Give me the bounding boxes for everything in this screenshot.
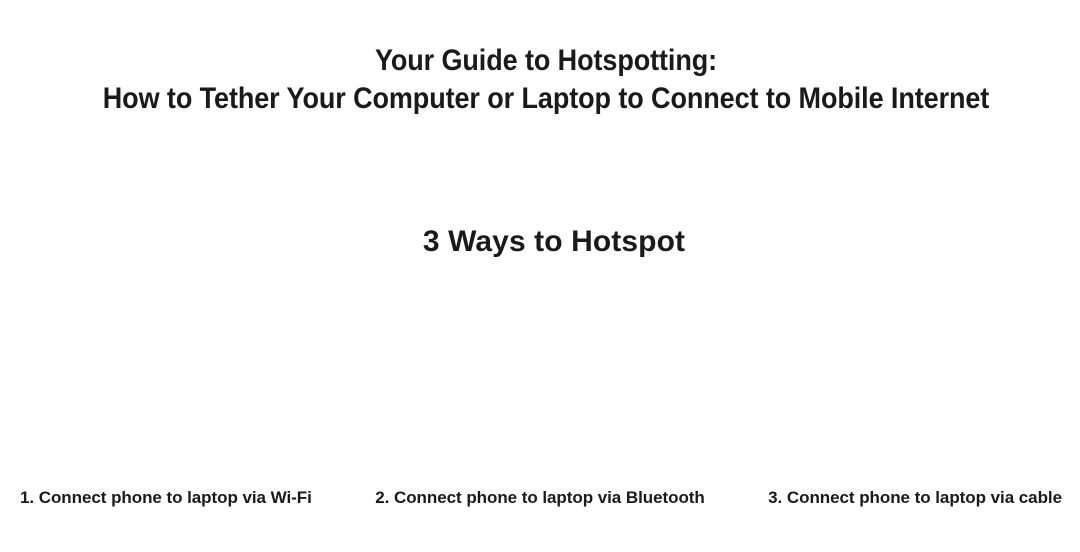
infographic-canvas: Your Guide to Hotspotting: How to Tether… [0,0,1080,552]
method-caption-bluetooth: 2. Connect phone to laptop via Bluetooth [360,487,720,513]
method-caption-cable: 3. Connect phone to laptop via cable [720,487,1080,513]
illustration-band [0,280,1080,476]
illustration-slot-bluetooth [360,280,720,476]
section-heading: 3 Ways to Hotspot [0,222,1080,262]
illustration-slot-cable [720,280,1080,476]
method-caption-row: 1. Connect phone to laptop via Wi-Fi 2. … [0,487,1080,513]
illustration-slot-wifi [0,280,360,476]
page-title: Your Guide to Hotspotting: How to Tether… [0,42,1080,118]
page-title-line-2: How to Tether Your Computer or Laptop to… [55,80,1038,118]
page-title-line-1: Your Guide to Hotspotting: [55,42,1038,80]
method-caption-wifi: 1. Connect phone to laptop via Wi-Fi [0,487,360,513]
